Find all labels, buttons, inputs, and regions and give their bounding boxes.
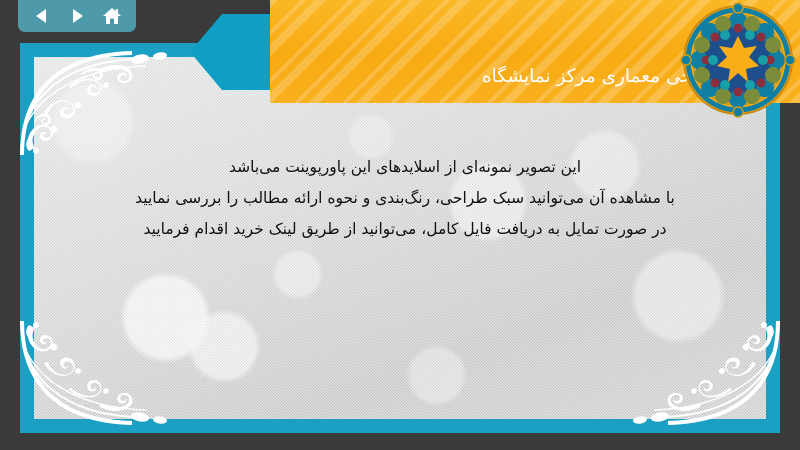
home-button[interactable] [99,4,125,28]
persian-medallion-icon [680,2,796,118]
previous-slide-button[interactable] [29,4,55,28]
home-icon [102,7,122,26]
banner-arrow-tab [190,14,272,90]
slide-navigation-bar [18,0,136,32]
slide-body-text: این تصویر نمونه‌ای از اسلایدهای این پاور… [74,152,736,245]
body-line-1: این تصویر نمونه‌ای از اسلایدهای این پاور… [74,152,736,183]
slide-canvas: این تصویر نمونه‌ای از اسلایدهای این پاور… [34,57,766,419]
triangle-left-icon [33,7,51,25]
triangle-right-icon [68,7,86,25]
presentation-viewer: این تصویر نمونه‌ای از اسلایدهای این پاور… [0,0,800,450]
body-line-2: با مشاهده آن می‌توانید سبک طراحی، رنگ‌بن… [74,183,736,214]
body-line-3: در صورت تمایل به دریافت فایل کامل، می‌تو… [74,214,736,245]
next-slide-button[interactable] [64,4,90,28]
